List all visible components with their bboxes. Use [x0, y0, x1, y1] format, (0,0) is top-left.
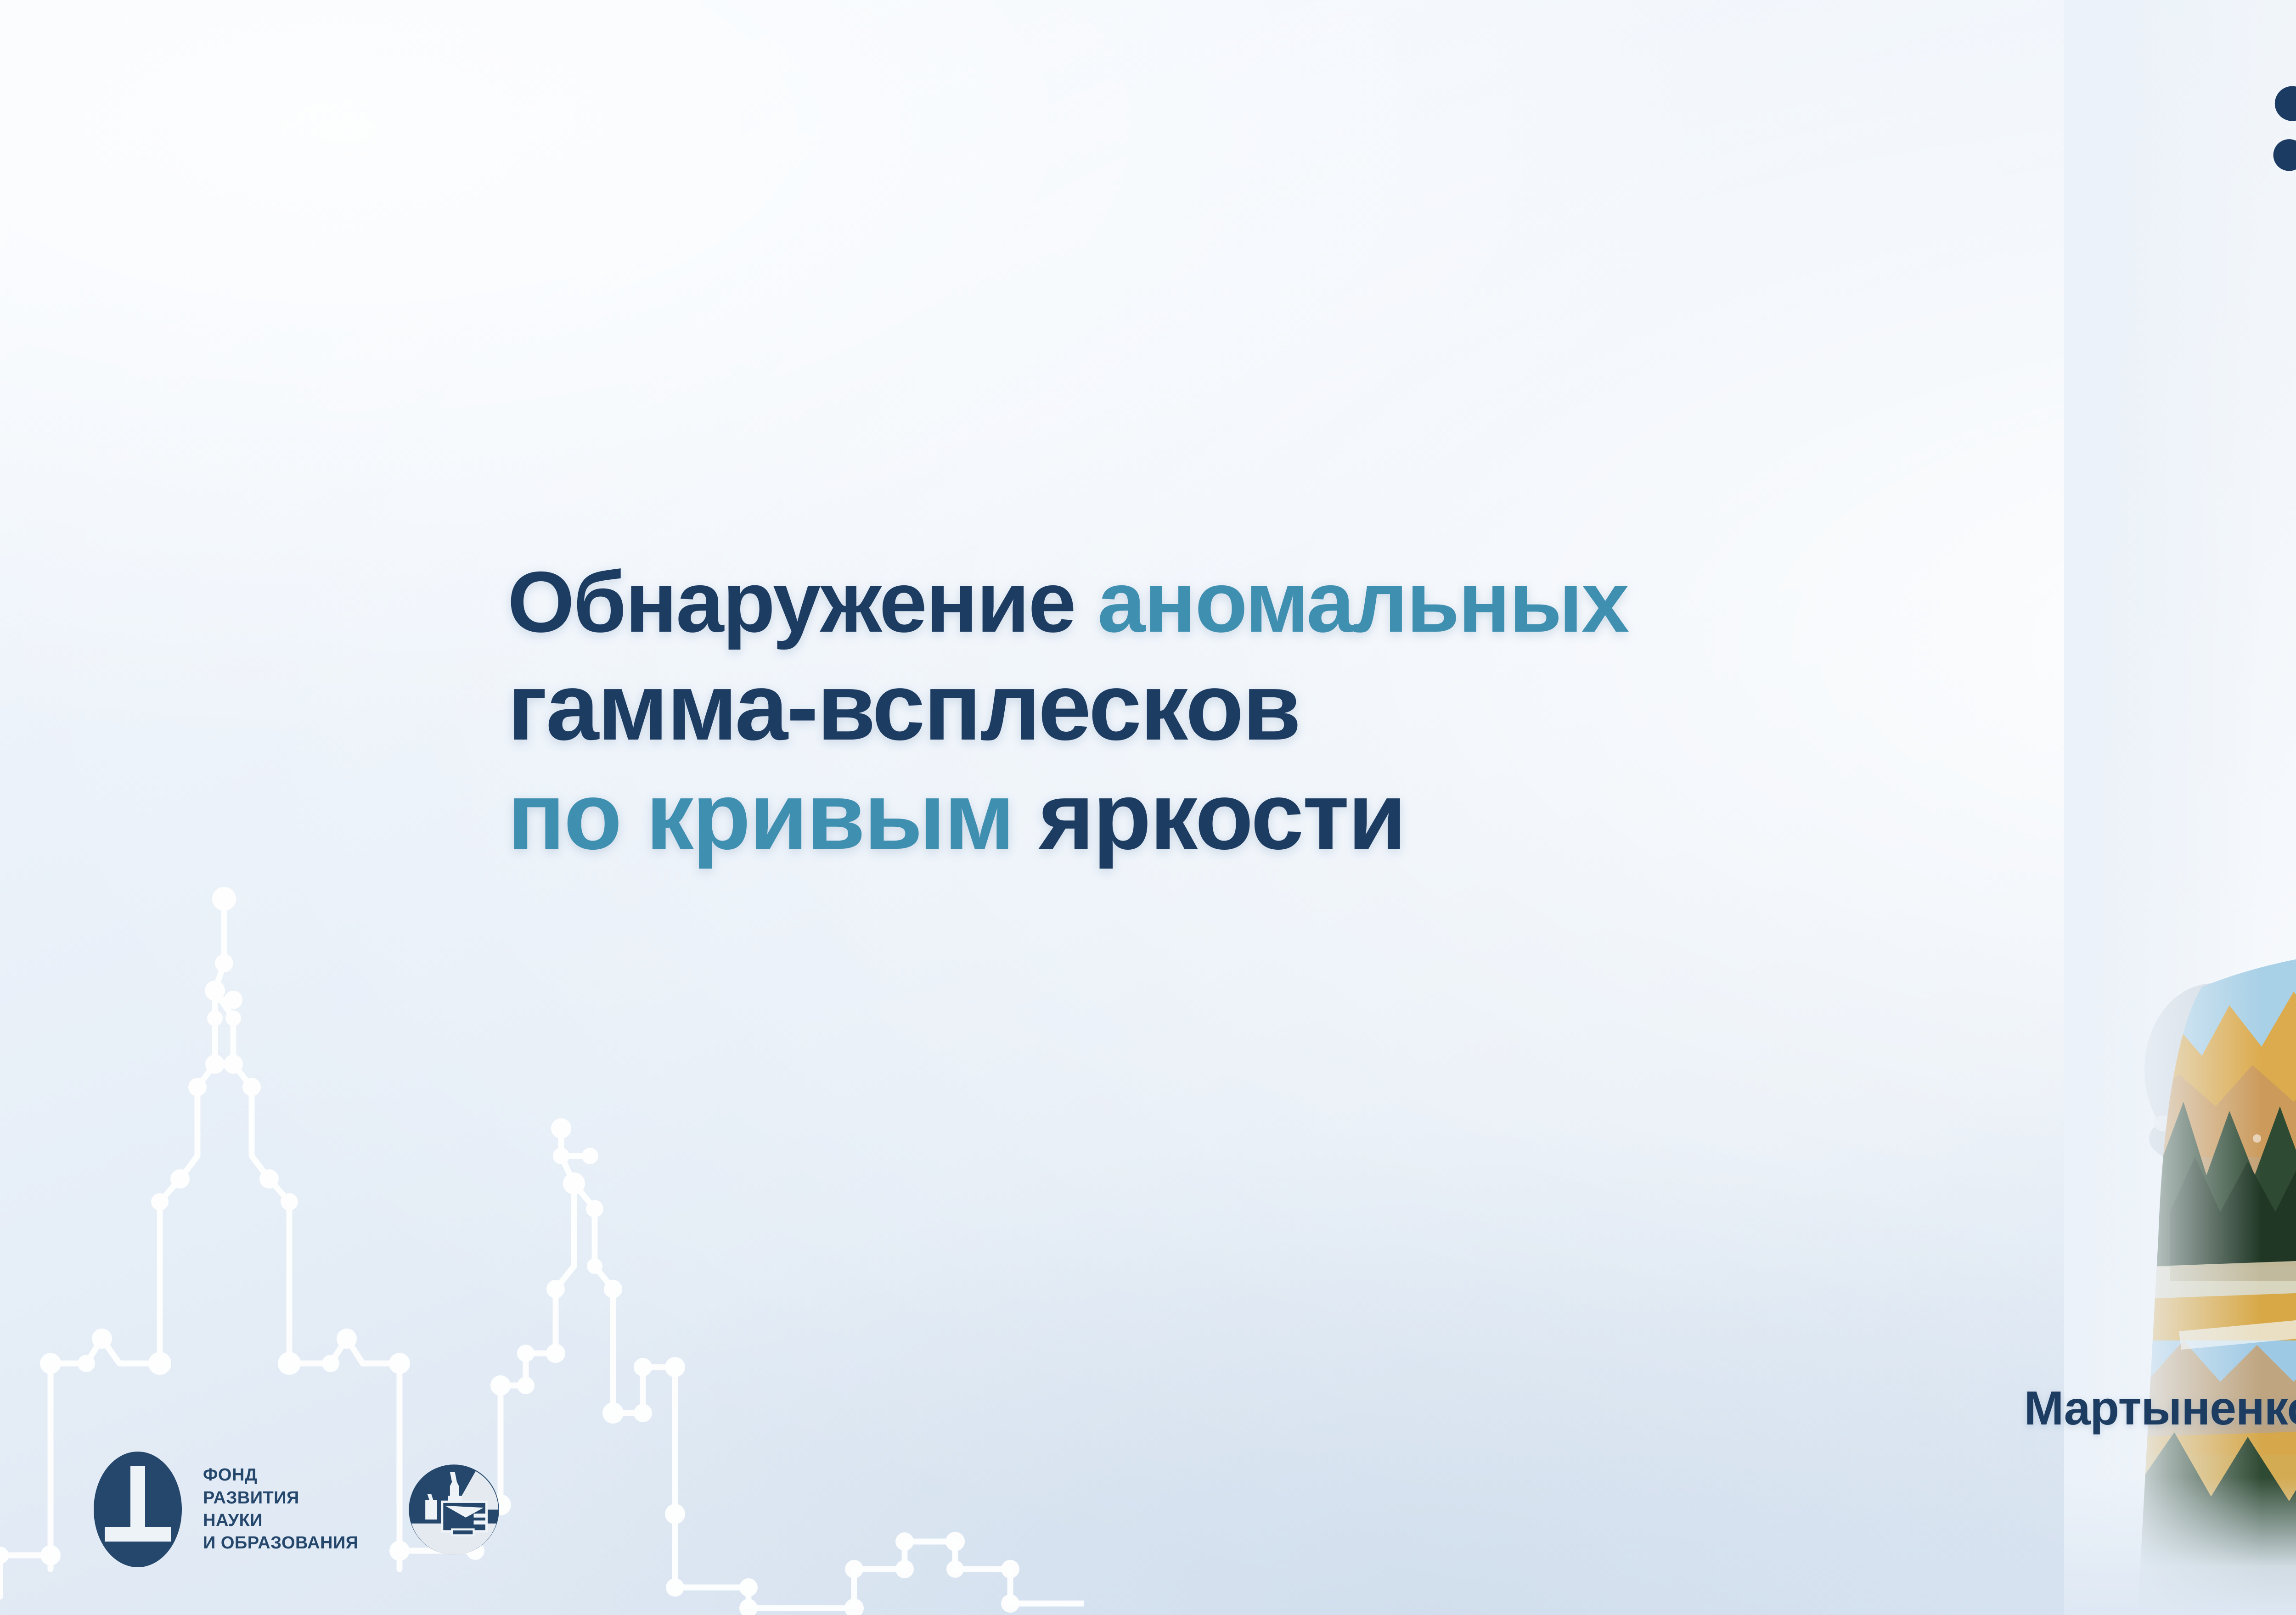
- slide-title: Обнаружение аномальных гамма-всплесков п…: [507, 558, 2234, 865]
- title-line-3: по кривым яркости: [507, 767, 2234, 865]
- title-word-obnaruzhenie: Обнаружение: [507, 554, 1075, 650]
- presentation-slide: MSU.AI Обнаружение аномальных гамма-вспл…: [0, 0, 2296, 1615]
- network-nodes-icon: [2268, 55, 2296, 207]
- fund-text-line-2: РАЗВИТИЯ: [203, 1488, 299, 1508]
- fund-text-line-1: ФОНД: [203, 1465, 258, 1485]
- fund-text-line-4: И ОБРАЗОВАНИЯ: [203, 1533, 359, 1553]
- fund-pillar-icon: [92, 1450, 184, 1569]
- title-word-anomalnyh: аномальных: [1097, 554, 1628, 650]
- title-word-yarkosti: яркости: [1039, 763, 1406, 869]
- title-word-gamma-vspleskov: гамма-всплесков: [507, 654, 1300, 760]
- fund-logo[interactable]: ФОНД РАЗВИТИЯ НАУКИ И ОБРАЗОВАНИЯ: [92, 1450, 359, 1569]
- footer-logo-group: ФОНД РАЗВИТИЯ НАУКИ И ОБРАЗОВАНИЯ: [92, 1450, 503, 1569]
- fund-text-line-3: НАУКИ: [203, 1511, 263, 1530]
- title-line-2: гамма-всплесков: [507, 658, 2234, 756]
- msu-ai-logo[interactable]: MSU.AI: [2268, 55, 2296, 207]
- speaker-name: Мартыненко Николай Сергеевич: [2024, 1381, 2296, 1436]
- fund-logo-text: ФОНД РАЗВИТИЯ НАУКИ И ОБРАЗОВАНИЯ: [203, 1464, 359, 1555]
- title-line-1: Обнаружение аномальных: [507, 558, 2234, 647]
- title-word-po-krivym: по кривым: [507, 763, 1013, 869]
- msu-building-emblem-icon[interactable]: [405, 1460, 503, 1559]
